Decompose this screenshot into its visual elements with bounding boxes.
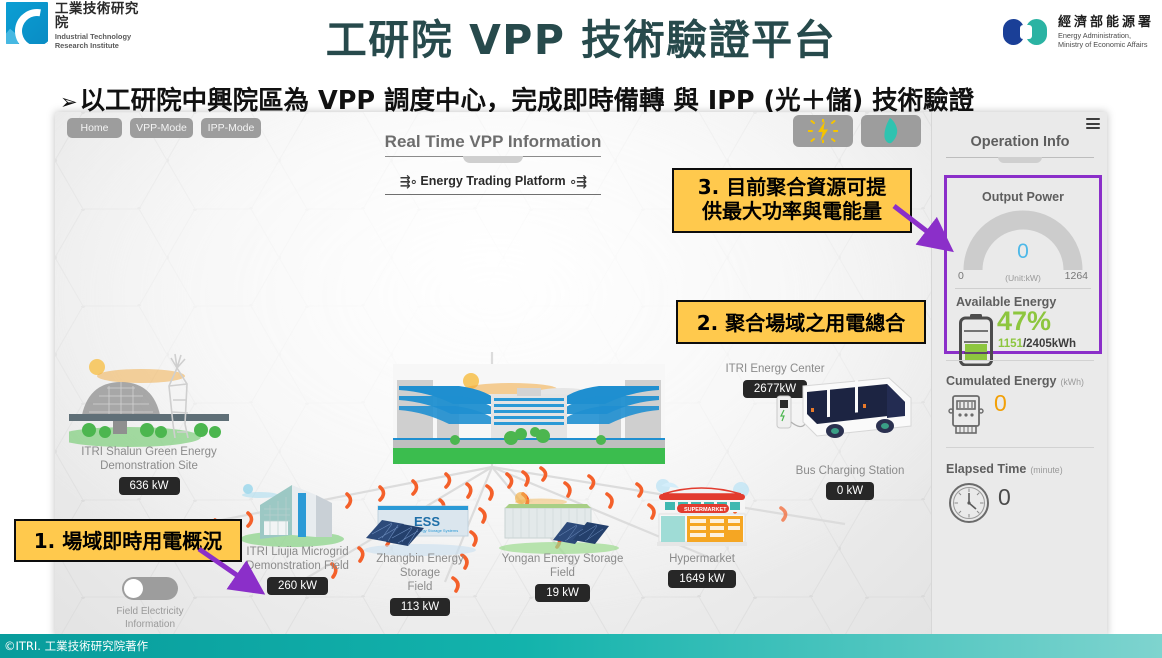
liujia-microgrid-illustration [230,477,350,547]
node-label-line1: ITRI Liujia Microgrid [246,546,348,558]
elapsed-divider [946,447,1094,448]
bullet-icon: ➢ [60,90,78,114]
elapsed-time-label: Elapsed Time [946,462,1026,476]
toggle-label-line1: Field Electricity [116,606,183,617]
callout-1: 1. 場域即時用電概況 [14,519,242,562]
node-label: Bus Charging Station [785,464,915,478]
cumulated-divider [946,360,1094,361]
node-value-chip: 19 kW [535,584,590,602]
node-value-chip: 636 kW [119,477,180,495]
callout-3-line2: 供最大功率與電能量 [678,199,906,223]
node-value-chip: 260 kW [267,577,328,595]
cumulated-energy-unit: (kWh) [1060,377,1083,387]
output-power-highlight-box: Output Power 0 0 (Unit:kW) 1264 Availabl… [944,175,1102,354]
field-electricity-toggle-group[interactable]: Field Electricity Information [90,577,210,631]
svg-text:ESS: ESS [414,514,440,529]
hypermarket-illustration: SUPERMARKET [647,472,757,552]
highlight-inner-divider [955,288,1091,289]
callout-3: 3. 目前聚合資源可提 供最大功率與電能量 [672,168,912,233]
available-energy-current: 1151 [998,338,1023,350]
output-power-title: Output Power [947,190,1099,204]
node-yongan[interactable]: Yongan Energy Storage Field 19 kW [490,552,635,602]
available-energy-detail: 1151/2405kWh [998,338,1076,350]
cumulated-energy-value: 0 [994,390,1007,417]
cumulated-energy-title: Cumulated Energy(kWh) [946,374,1084,388]
node-label-line2: Demonstration Field [246,560,349,572]
available-energy-total: /2405kWh [1023,338,1076,350]
page-title: 工研院 VPP 技術驗證平台 [0,6,1162,66]
elapsed-time-unit: (minute) [1030,465,1062,475]
node-label-line1: Zhangbin Energy Storage [376,553,464,579]
elapsed-time-value: 0 [998,484,1011,511]
node-label-line1: ITRI Shalun Green Energy [81,446,217,458]
clock-icon [948,482,990,524]
field-electricity-toggle[interactable] [122,577,178,600]
cumulated-energy-label: Cumulated Energy [946,374,1056,388]
operation-info-sidebar: Operation Info Output Power 0 0 (Unit:kW… [931,112,1107,637]
slide-header: 工業技術研究院 Industrial Technology Research I… [0,0,1162,72]
shalun-site-illustration [69,342,229,447]
itri-energy-center-illustration [393,364,665,464]
node-zhangbin[interactable]: Zhangbin Energy Storage Field 113 kW [360,552,480,616]
node-label-line2: Demonstration Site [100,460,198,472]
toggle-label-line2: Information [125,619,175,630]
node-value-chip: 1649 kW [668,570,735,588]
node-value-chip: 113 kW [390,598,450,616]
slide-root: 工業技術研究院 Industrial Technology Research I… [0,0,1162,658]
node-label: Hypermarket [647,552,757,566]
battery-icon [959,314,993,366]
elapsed-time-title: Elapsed Time(minute) [946,462,1063,476]
node-shalun[interactable]: ITRI Shalun Green Energy Demonstration S… [79,445,219,495]
sidebar-title: Operation Info [932,134,1107,150]
node-hypermarket[interactable]: Hypermarket 1649 kW [647,552,757,588]
node-value-chip: 0 kW [826,482,874,500]
footer-copyright: ©ITRI. 工業技術研究院著作 [0,634,1162,658]
output-power-value: 0 [947,240,1099,264]
realtime-info-title: Real Time VPP Information [55,132,931,152]
yongan-storage-illustration [495,490,625,556]
node-liujia[interactable]: ITRI Liujia Microgrid Demonstration Fiel… [235,545,360,595]
node-label-line2: Field [408,581,433,593]
gauge-max-label: 1264 [1065,270,1088,282]
field-electricity-toggle-label: Field Electricity Information [90,605,210,631]
callout-2: 2. 聚合場域之用電總合 [676,300,926,344]
realtime-title-divider [385,156,601,157]
available-energy-percent: 47% [997,308,1051,335]
zhangbin-storage-illustration: ESS Energy Storage Systems [360,494,480,556]
energy-meter-icon [948,394,984,434]
node-label: Yongan Energy Storage Field [490,552,635,580]
callout-3-line1: 3. 目前聚合資源可提 [678,175,906,199]
node-bus-charging[interactable]: Bus Charging Station 0 kW [785,464,915,500]
hamburger-icon[interactable] [1086,118,1100,132]
circuit-icon-left: ⇶∘ [400,174,417,190]
svg-text:SUPERMARKET: SUPERMARKET [684,507,727,513]
bus-charging-station-illustration [771,364,921,459]
platform-divider [385,194,601,195]
energy-trading-platform-text: Energy Trading Platform [420,174,565,188]
sidebar-divider [946,157,1094,158]
circuit-icon-right: ∘⇶ [569,174,586,190]
